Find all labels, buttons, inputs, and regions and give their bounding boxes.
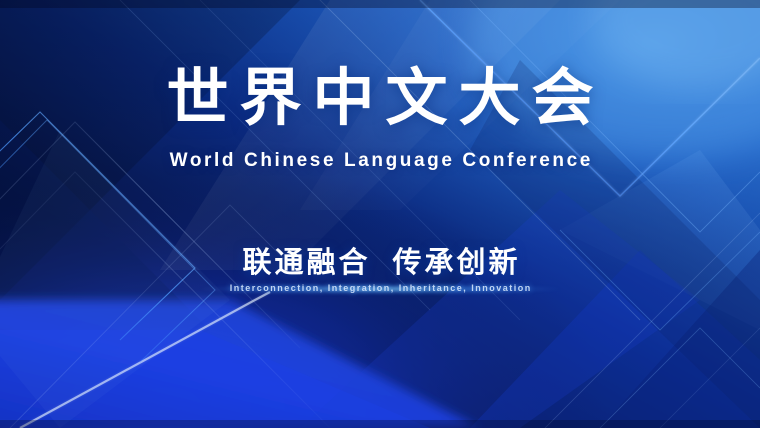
- poster-content: 世界中文大会 World Chinese Language Conference…: [0, 0, 760, 428]
- tagline-part-1: 联通融合: [242, 247, 370, 279]
- conference-poster: 世界中文大会 World Chinese Language Conference…: [0, 0, 760, 428]
- tagline-part-2: 传承创新: [393, 247, 521, 279]
- tagline: 联通融合传承创新: [239, 248, 520, 278]
- tagline-block: 联通融合传承创新 Interconnection, Integration, I…: [0, 248, 760, 293]
- page-title: 世界中文大会: [155, 68, 604, 130]
- tagline-english: Interconnection, Integration, Inheritanc…: [228, 283, 532, 293]
- page-subtitle: World Chinese Language Conference: [167, 150, 593, 172]
